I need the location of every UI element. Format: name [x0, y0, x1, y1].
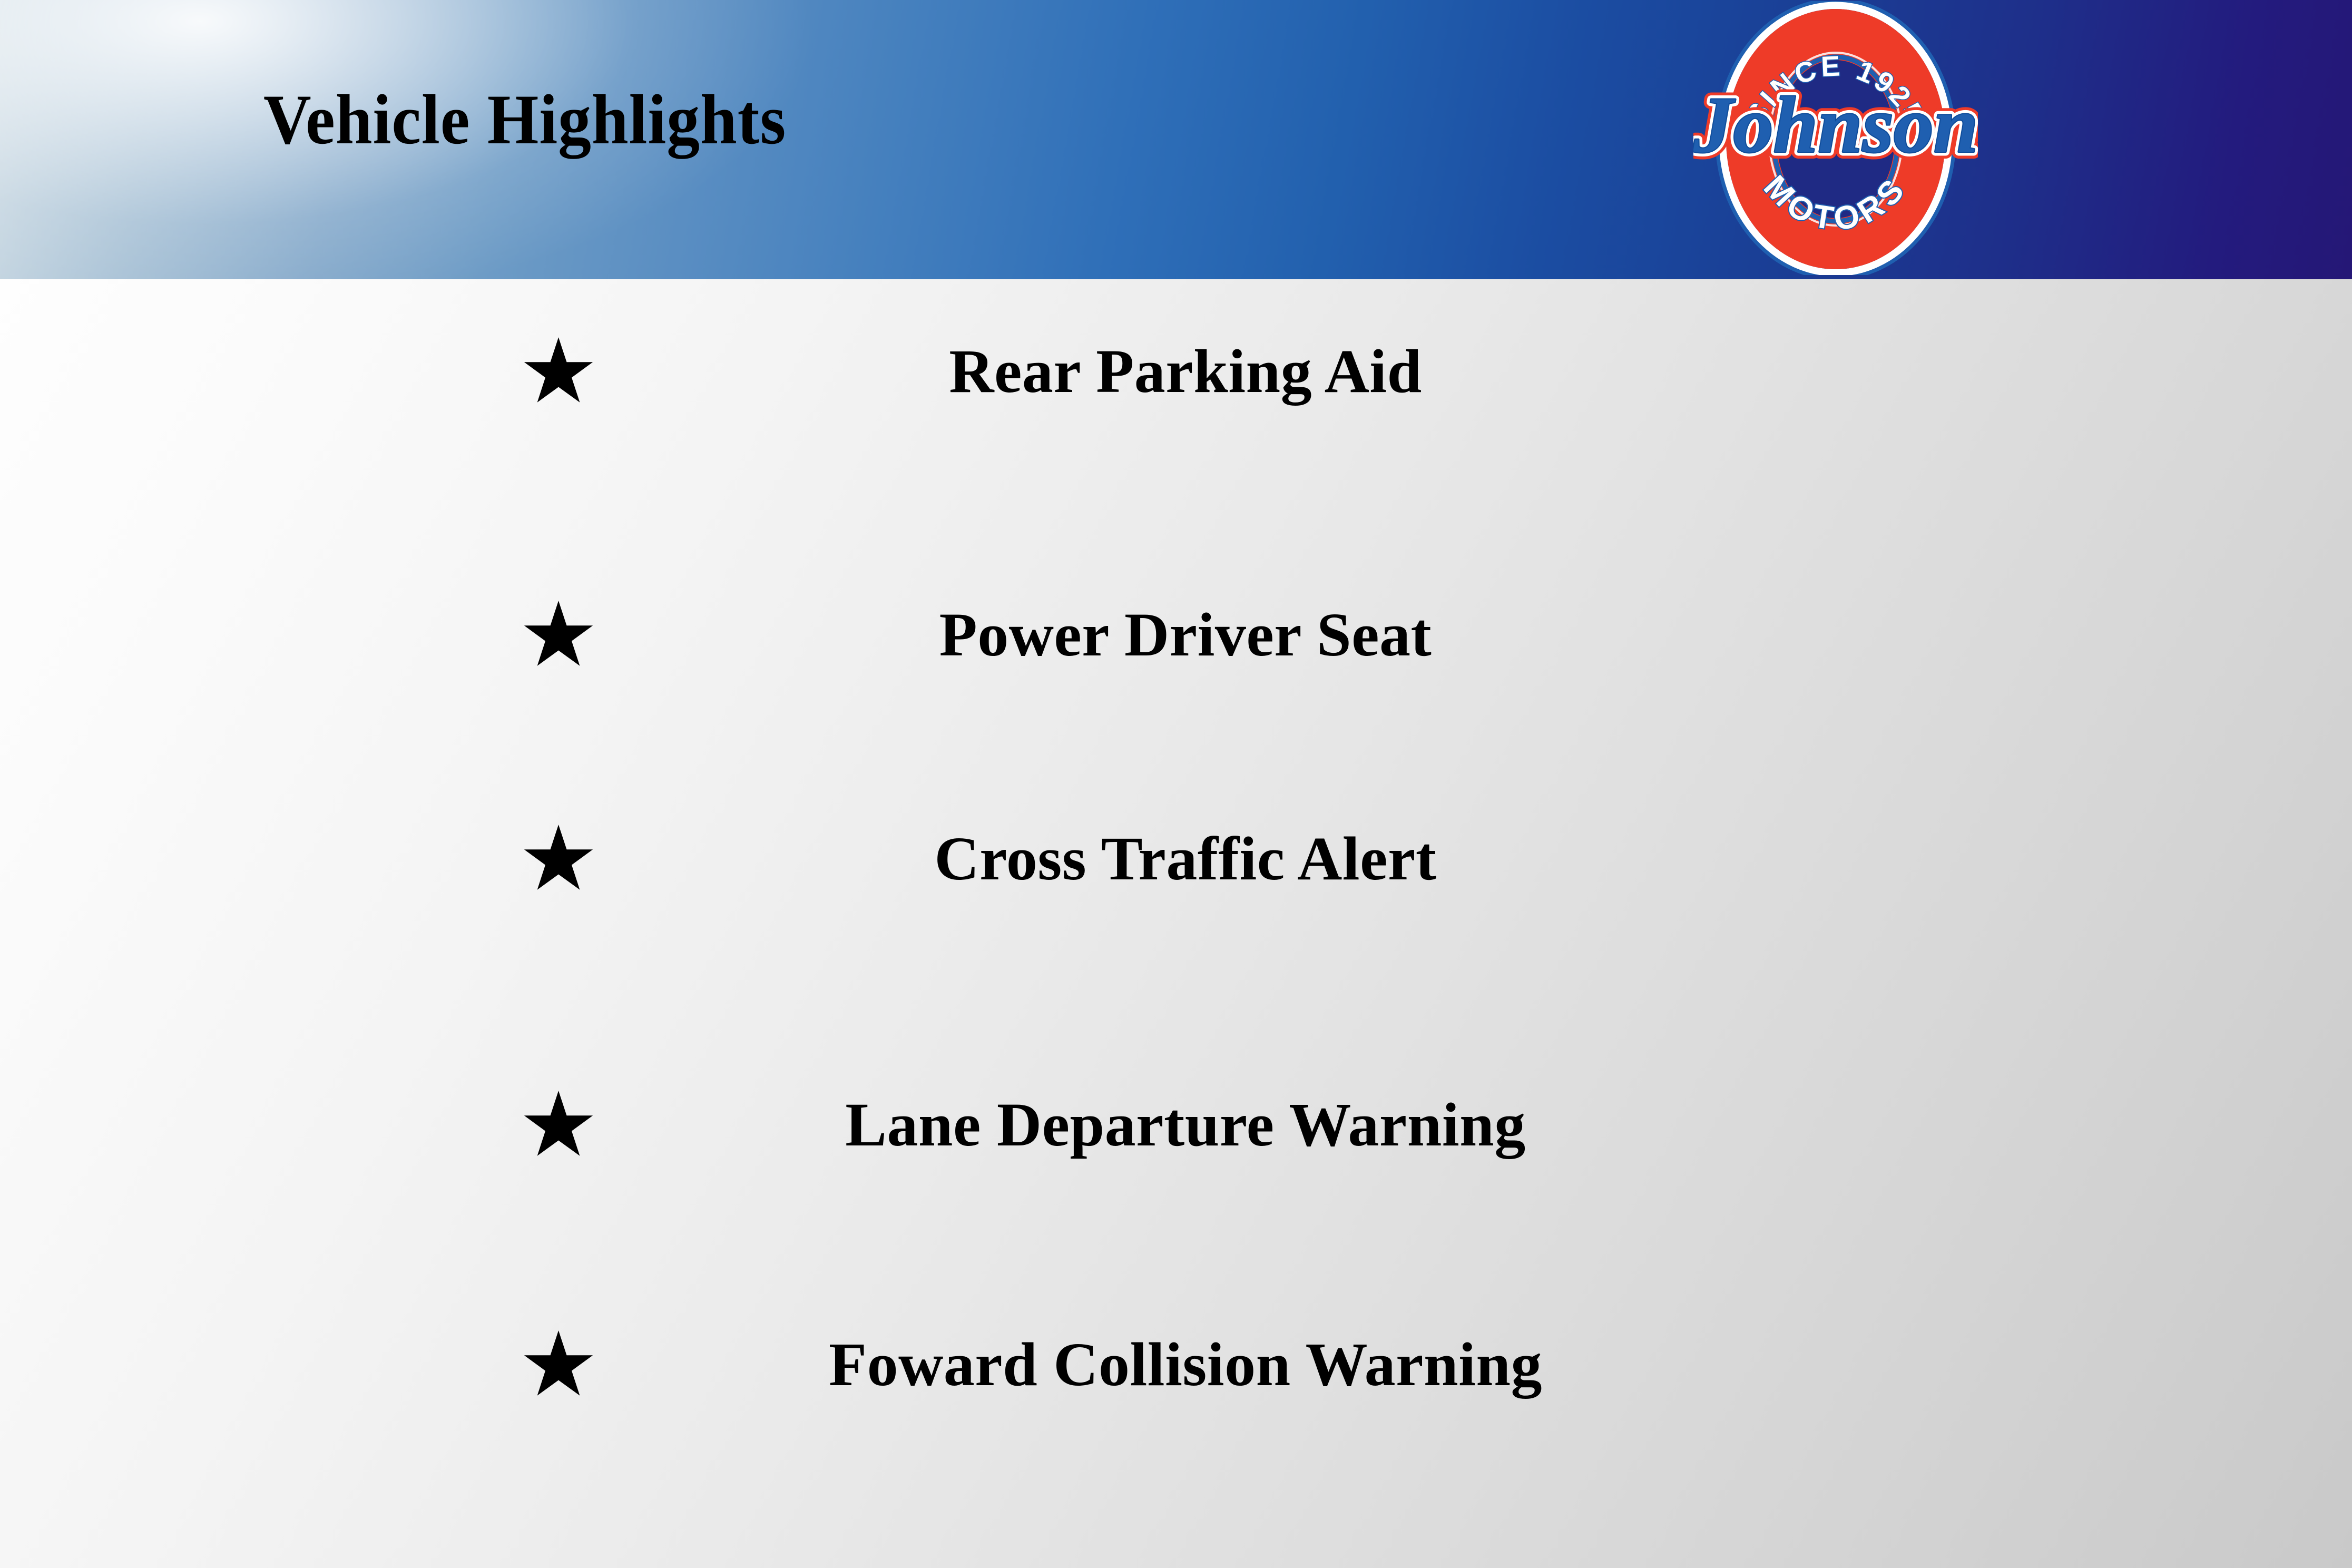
- star-icon: ★: [506, 1312, 611, 1417]
- list-item: ★ Foward Collision Warning: [0, 1312, 2352, 1417]
- star-icon: ★: [506, 1072, 611, 1178]
- feature-label: Foward Collision Warning: [632, 1312, 1739, 1417]
- list-item: ★ Lane Departure Warning: [0, 1072, 2352, 1178]
- list-item: ★ Cross Traffic Alert: [0, 806, 2352, 912]
- feature-list: ★ Rear Parking Aid ★ Power Driver Seat ★…: [0, 279, 2352, 1568]
- vehicle-highlights-slide: Vehicle Highlights: [0, 0, 2352, 1568]
- star-icon: ★: [506, 582, 611, 688]
- feature-label: Power Driver Seat: [632, 582, 1739, 688]
- list-item: ★ Power Driver Seat: [0, 582, 2352, 688]
- list-item: ★ Rear Parking Aid: [0, 319, 2352, 424]
- feature-label: Rear Parking Aid: [632, 319, 1739, 424]
- logo-johnson-wordmark: Johnson Johnson Johnson: [1693, 81, 1978, 169]
- johnson-motors-logo: SINCE 1925 MOTORS Johnson Johnson Johnso…: [1693, 1, 1978, 275]
- feature-label: Lane Departure Warning: [632, 1072, 1739, 1178]
- feature-label: Cross Traffic Alert: [632, 806, 1739, 912]
- header-band: Vehicle Highlights: [0, 0, 2352, 279]
- page-title: Vehicle Highlights: [263, 84, 786, 155]
- star-icon: ★: [506, 319, 611, 424]
- star-icon: ★: [506, 806, 611, 912]
- svg-text:Johnson: Johnson: [1693, 81, 1978, 169]
